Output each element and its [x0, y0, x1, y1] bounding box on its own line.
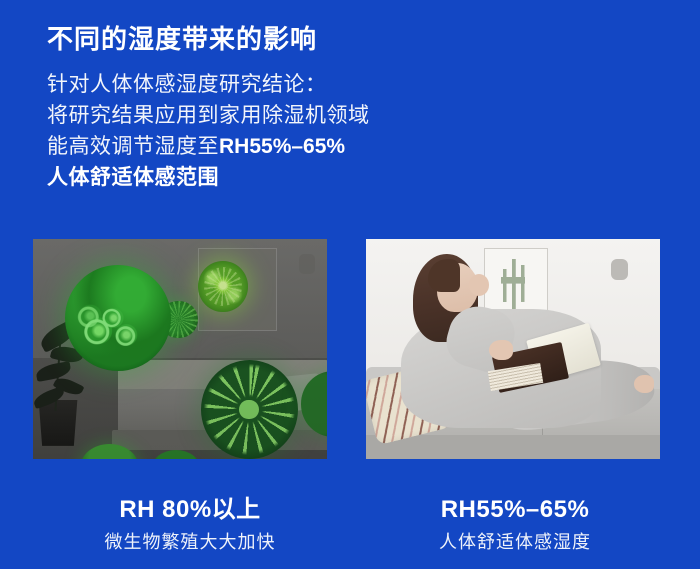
comparison-panels	[0, 239, 700, 460]
caption-subtitle: 人体舒适体感湿度	[350, 529, 680, 555]
page-title: 不同的湿度带来的影响	[47, 20, 667, 58]
humidity-range-highlight: RH55%–65%	[219, 135, 345, 158]
dim-living-room-scene	[33, 239, 327, 459]
copy-line-4: 人体舒适体感范围	[47, 162, 667, 193]
humidity-infographic-page: { "theme": { "background": "#1347C4", "t…	[0, 0, 700, 569]
woman-hand-holding-book	[489, 340, 513, 360]
caption-title: RH55%–65%	[350, 494, 680, 526]
copy-line-1: 针对人体体感湿度研究结论：	[47, 69, 667, 100]
wall-speaker-icon	[611, 259, 628, 280]
header-text-block: 不同的湿度带来的影响 针对人体体感湿度研究结论： 将研究结果应用到家用除湿机领域…	[47, 20, 667, 193]
copy-line-3-lead: 能高效调节湿度至	[47, 135, 219, 158]
bright-living-room-scene	[366, 239, 660, 459]
sofa-base	[366, 435, 660, 459]
scene-shadow-overlay	[33, 239, 327, 459]
body-copy: 针对人体体感湿度研究结论： 将研究结果应用到家用除湿机领域 能高效调节湿度至RH…	[47, 69, 667, 193]
woman-foot	[634, 375, 655, 393]
caption-comfort-humidity: RH55%–65% 人体舒适体感湿度	[350, 494, 680, 555]
copy-line-3: 能高效调节湿度至RH55%–65%	[47, 131, 667, 162]
copy-line-2: 将研究结果应用到家用除湿机领域	[47, 100, 667, 131]
caption-title: RH 80%以上	[25, 494, 355, 526]
panel-high-humidity-image	[33, 239, 327, 459]
panel-captions: RH 80%以上 微生物繁殖大大加快 RH55%–65% 人体舒适体感湿度	[0, 494, 700, 569]
panel-comfort-humidity-image	[366, 239, 660, 459]
caption-high-humidity: RH 80%以上 微生物繁殖大大加快	[25, 494, 355, 555]
caption-subtitle: 微生物繁殖大大加快	[25, 529, 355, 555]
